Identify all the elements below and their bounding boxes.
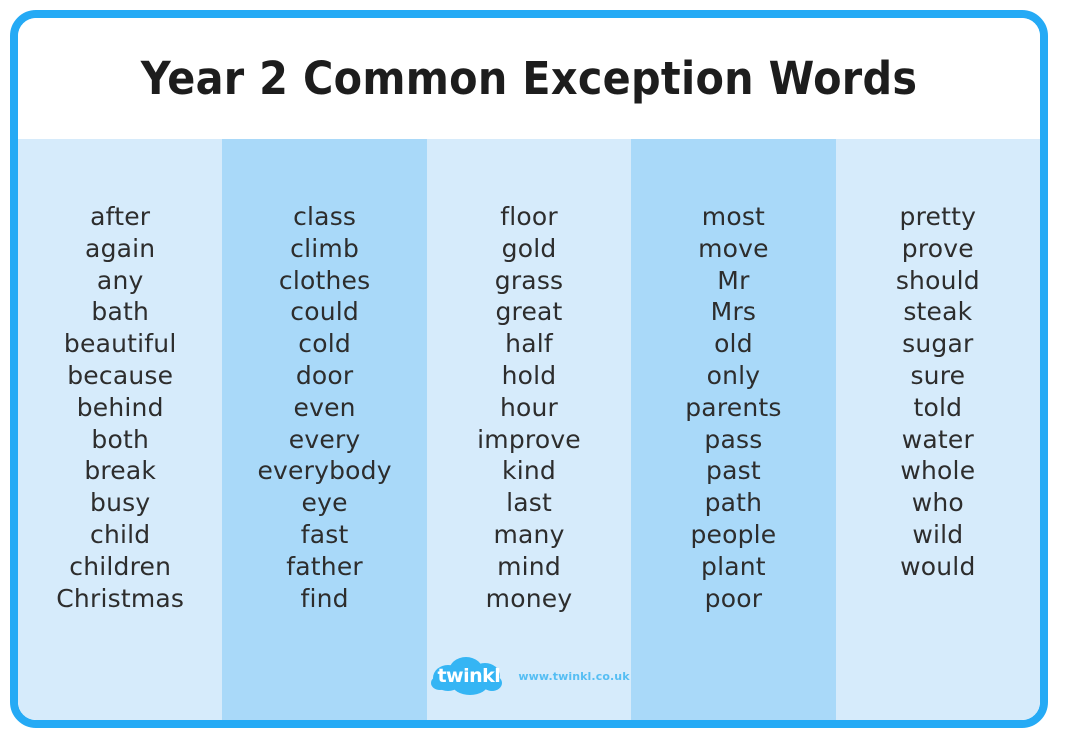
word-item: hour — [500, 392, 558, 424]
word-item: sugar — [902, 328, 973, 360]
word-item: mind — [497, 551, 561, 583]
word-columns: afteragainanybathbeautifulbecausebehindb… — [18, 139, 1040, 720]
word-item: because — [67, 360, 173, 392]
word-item: eye — [302, 487, 348, 519]
word-item: busy — [90, 487, 150, 519]
word-item: again — [85, 233, 155, 265]
twinkl-branding: twinkl www.twinkl.co.uk — [18, 656, 1040, 696]
poster-inner: Year 2 Common Exception Words afteragain… — [18, 18, 1040, 720]
word-column-3: floorgoldgrassgreathalfholdhourimproveki… — [427, 139, 631, 720]
word-item: cold — [298, 328, 351, 360]
word-item: sure — [910, 360, 965, 392]
word-column-5: prettyproveshouldsteaksugarsuretoldwater… — [836, 139, 1040, 720]
word-item: floor — [500, 201, 558, 233]
word-item: Mr — [717, 265, 749, 297]
word-item: people — [690, 519, 776, 551]
word-item: who — [912, 487, 964, 519]
word-item: grass — [495, 265, 564, 297]
word-item: child — [90, 519, 150, 551]
word-item: would — [900, 551, 975, 583]
word-item: gold — [502, 233, 557, 265]
word-item: Christmas — [56, 583, 184, 615]
word-item: money — [486, 583, 573, 615]
word-item: only — [707, 360, 761, 392]
word-item: pretty — [900, 201, 977, 233]
word-item: beautiful — [64, 328, 177, 360]
word-item: hold — [502, 360, 557, 392]
word-item: everybody — [257, 455, 391, 487]
word-item: every — [289, 424, 361, 456]
word-item: kind — [502, 455, 556, 487]
word-item: plant — [701, 551, 766, 583]
word-item: should — [896, 265, 980, 297]
word-item: whole — [900, 455, 975, 487]
word-item: path — [705, 487, 763, 519]
word-item: even — [294, 392, 356, 424]
word-item: half — [505, 328, 553, 360]
word-item: after — [90, 201, 150, 233]
twinkl-logo[interactable]: twinkl — [428, 656, 508, 696]
word-item: find — [300, 583, 348, 615]
word-item: great — [495, 296, 562, 328]
word-item: fast — [301, 519, 349, 551]
word-item: move — [698, 233, 769, 265]
word-item: water — [902, 424, 974, 456]
word-item: both — [91, 424, 149, 456]
word-item: climb — [290, 233, 359, 265]
word-item: Mrs — [711, 296, 756, 328]
word-item: wild — [912, 519, 963, 551]
word-item: class — [293, 201, 356, 233]
word-item: could — [290, 296, 359, 328]
word-item: many — [493, 519, 564, 551]
word-item: steak — [903, 296, 972, 328]
word-item: poor — [705, 583, 763, 615]
word-item: improve — [477, 424, 581, 456]
word-item: break — [84, 455, 156, 487]
word-item: prove — [902, 233, 974, 265]
word-item: old — [714, 328, 753, 360]
word-item: any — [97, 265, 144, 297]
word-item: father — [286, 551, 363, 583]
word-item: most — [702, 201, 765, 233]
word-item: bath — [91, 296, 149, 328]
word-item: door — [296, 360, 354, 392]
word-item: pass — [704, 424, 762, 456]
word-item: parents — [685, 392, 781, 424]
page-title: Year 2 Common Exception Words — [141, 56, 918, 101]
word-item: clothes — [279, 265, 370, 297]
twinkl-url[interactable]: www.twinkl.co.uk — [518, 670, 629, 683]
word-item: told — [913, 392, 962, 424]
twinkl-wordmark: twinkl — [428, 656, 508, 696]
word-item: children — [69, 551, 171, 583]
word-column-2: classclimbclothescouldcolddooreveneverye… — [222, 139, 426, 720]
word-item: past — [706, 455, 761, 487]
word-column-1: afteragainanybathbeautifulbecausebehindb… — [18, 139, 222, 720]
title-bar: Year 2 Common Exception Words — [18, 18, 1040, 139]
poster-card: Year 2 Common Exception Words afteragain… — [10, 10, 1048, 728]
word-item: behind — [77, 392, 164, 424]
word-item: last — [506, 487, 552, 519]
word-column-4: mostmoveMrMrsoldonlyparentspasspastpathp… — [631, 139, 835, 720]
